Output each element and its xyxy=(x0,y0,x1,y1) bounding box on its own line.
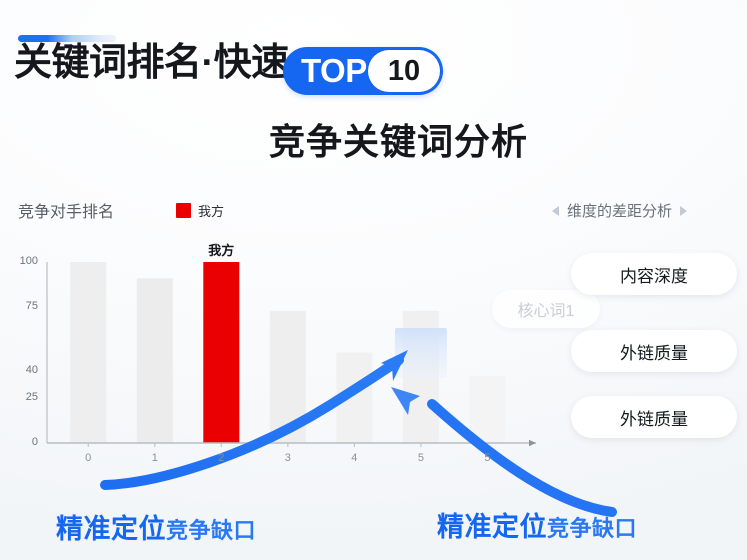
callout-right-strong: 精准定位 xyxy=(437,505,547,544)
chart-bar xyxy=(137,278,173,443)
x-axis-tick-1: 1 xyxy=(145,452,165,464)
y-axis-tick-1: 25 xyxy=(8,391,38,403)
slide-canvas: 关键词排名·快速 TOP 10 竞争关键词分析 竞争对手排名 我方 维度的差距分… xyxy=(0,0,747,560)
x-axis-tick-6: 5 xyxy=(477,452,497,464)
callout-right: 精准定位 竞争缺口 xyxy=(437,505,637,544)
callout-left-soft: 竞争缺口 xyxy=(166,513,256,545)
x-axis-tick-4: 4 xyxy=(344,452,364,464)
y-axis-tick-3: 75 xyxy=(8,300,38,312)
chart-bars xyxy=(70,262,505,447)
chart-bar-highlight-label: 我方 xyxy=(191,240,251,259)
callout-left: 精准定位 竞争缺口 xyxy=(56,507,256,546)
x-axis-tick-2: 2 xyxy=(211,452,231,464)
callout-left-strong: 精准定位 xyxy=(56,507,166,546)
y-axis-tick-0: 0 xyxy=(8,436,38,448)
y-axis-tick-2: 40 xyxy=(8,364,38,376)
x-axis-tick-5: 5 xyxy=(411,452,431,464)
x-axis-tick-3: 3 xyxy=(278,452,298,464)
chart-bar xyxy=(70,262,106,443)
chart-bar-highlight xyxy=(203,262,239,443)
x-axis-tick-0: 0 xyxy=(78,452,98,464)
callout-right-soft: 竞争缺口 xyxy=(547,511,637,543)
competitor-ranking-chart xyxy=(0,0,747,560)
y-axis-tick-4: 100 xyxy=(8,255,38,267)
chart-bar xyxy=(469,376,505,443)
